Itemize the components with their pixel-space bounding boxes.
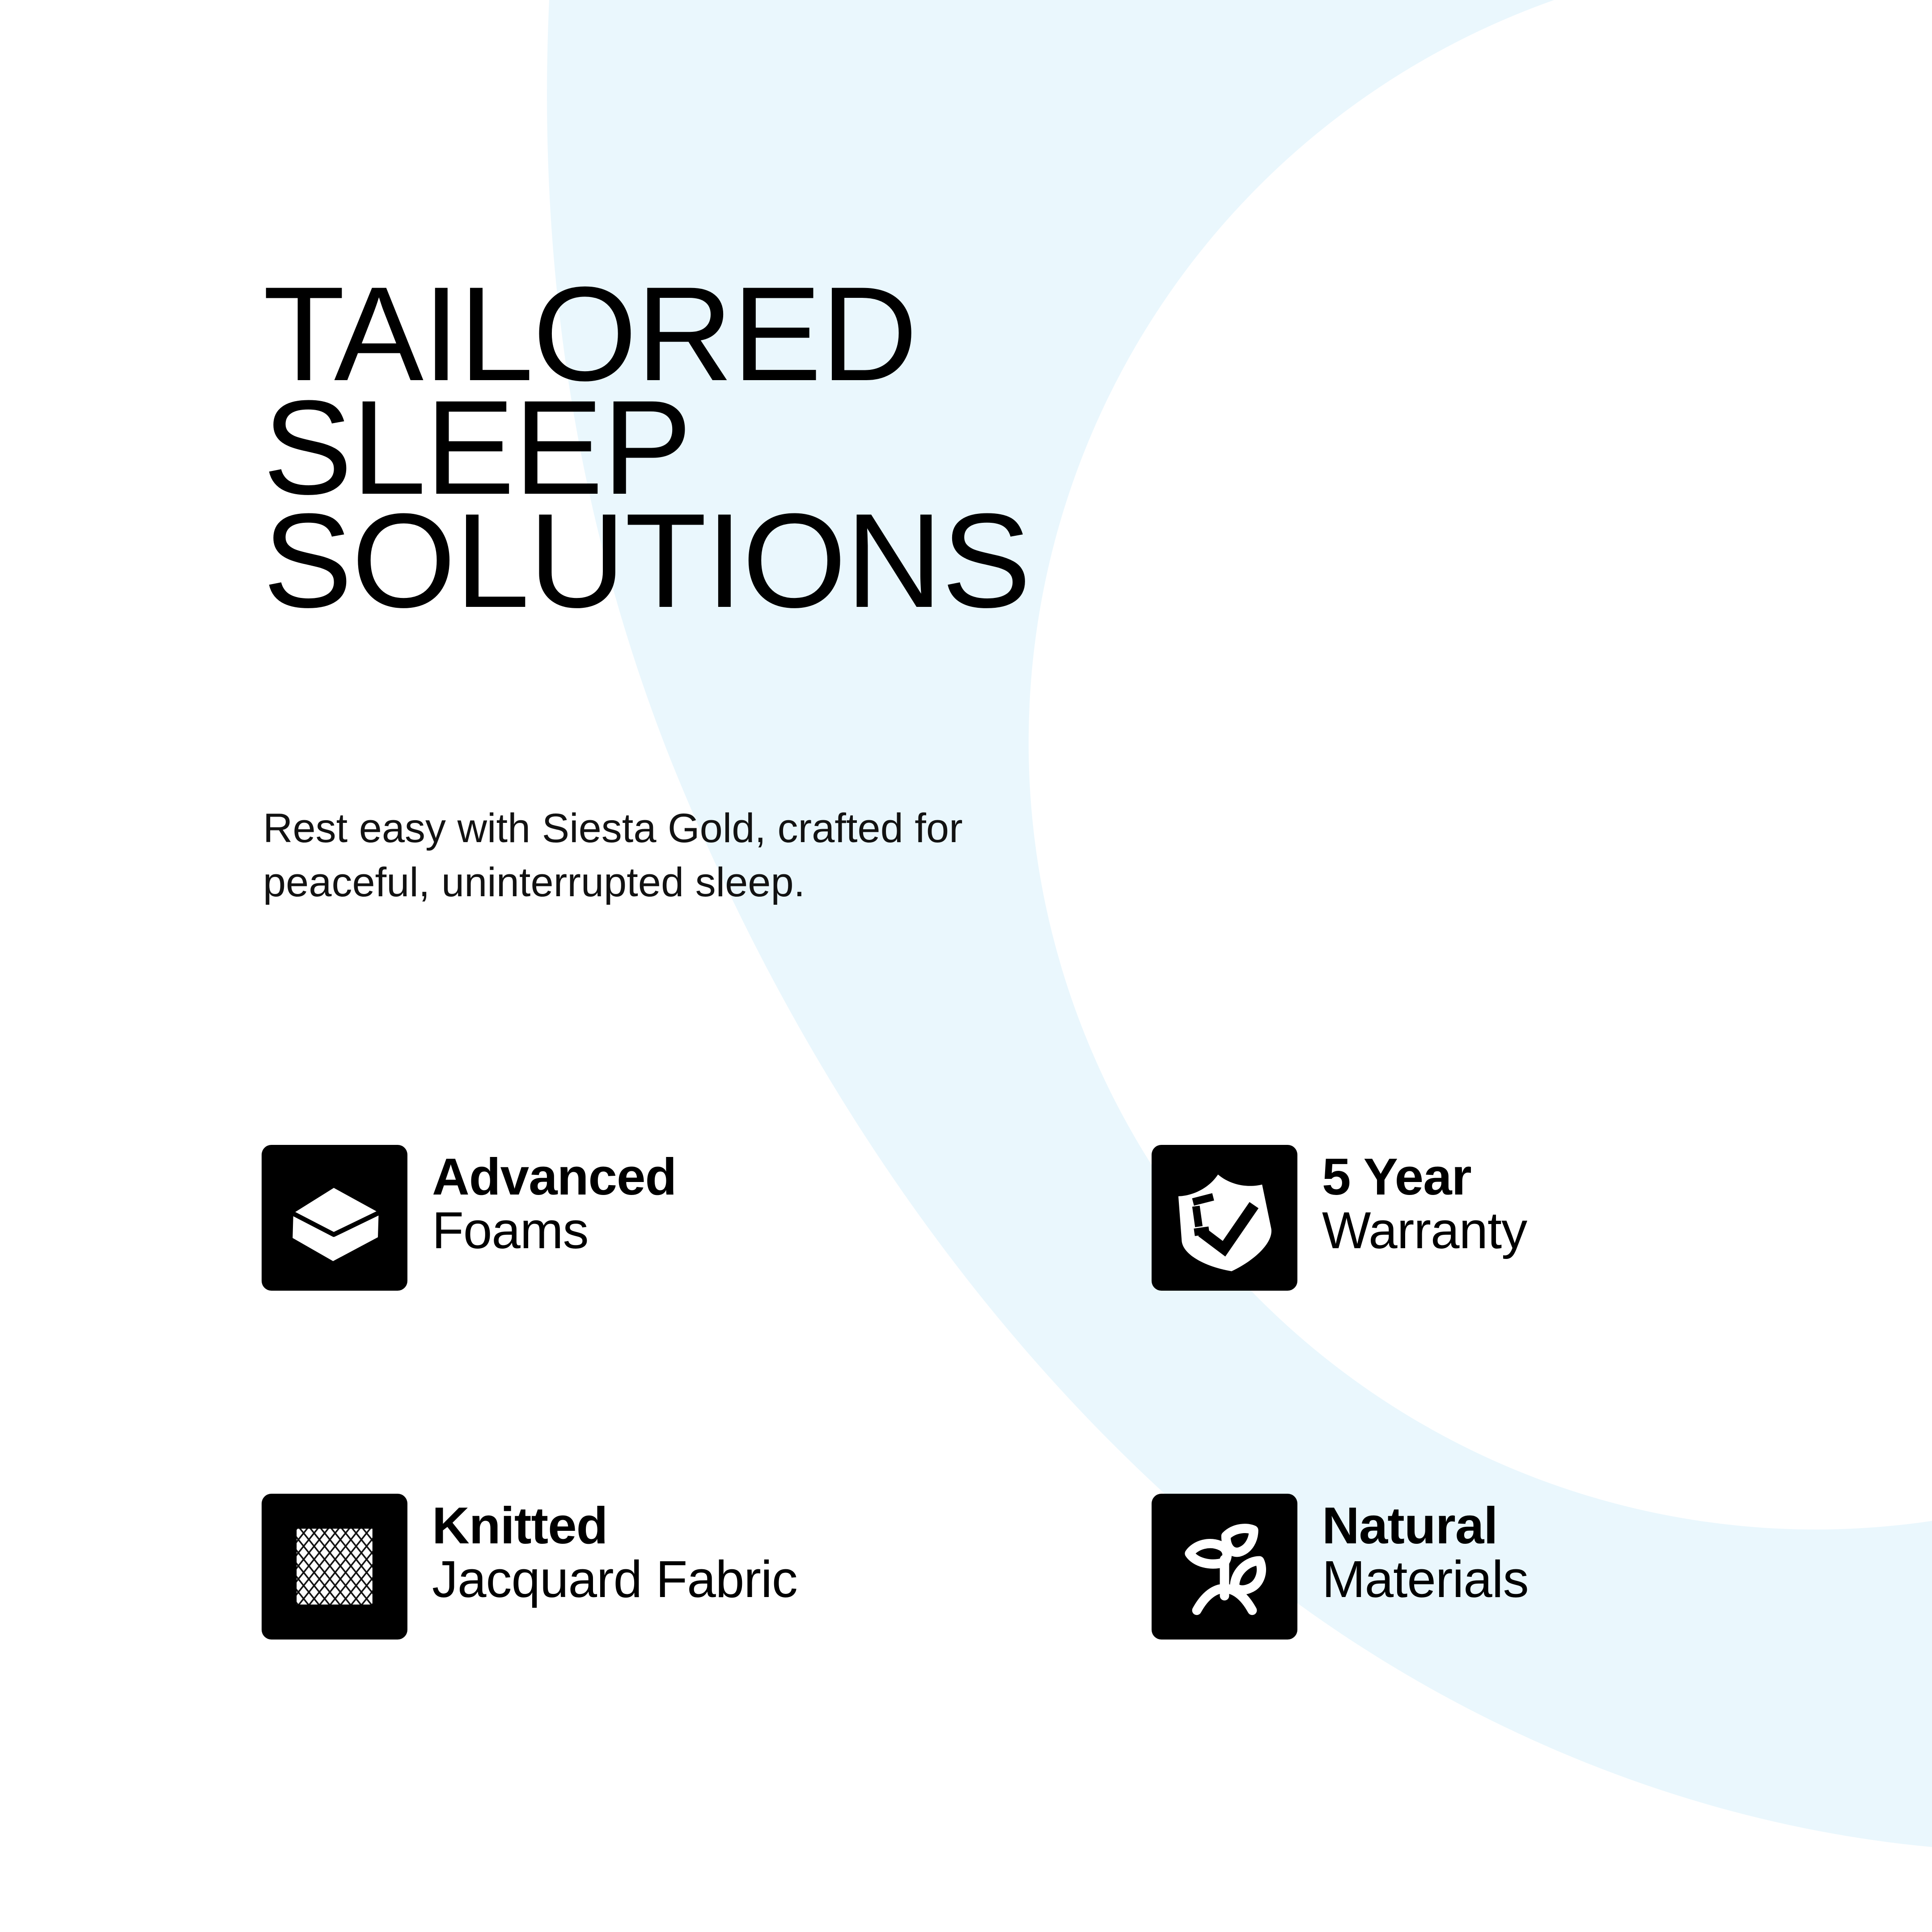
sprout-leaf-icon (1152, 1494, 1297, 1640)
feature-title: 5 Year (1322, 1150, 1527, 1203)
page-title: TAILORED SLEEP SOLUTIONS (263, 277, 1560, 618)
feature-grid: Advanced Foams 5 Year Warranty (262, 1145, 1720, 1843)
feature-subtitle: Warranty (1322, 1203, 1527, 1258)
headline-block: TAILORED SLEEP SOLUTIONS (263, 277, 1560, 618)
feature-item-warranty: 5 Year Warranty (1152, 1145, 1720, 1494)
feature-subtitle: Foams (432, 1203, 676, 1258)
subtitle-text: Rest easy with Siesta Gold, crafted for … (263, 801, 1113, 910)
feature-subtitle: Jacquard Fabric (432, 1552, 797, 1607)
feature-label-group: Natural Materials (1322, 1494, 1529, 1607)
feature-label-group: Advanced Foams (432, 1145, 676, 1258)
feature-label-group: Knitted Jacquard Fabric (432, 1494, 797, 1607)
shield-check-icon (1152, 1145, 1297, 1291)
feature-label-group: 5 Year Warranty (1322, 1145, 1527, 1258)
feature-item-natural-materials: Natural Materials (1152, 1494, 1720, 1843)
feature-title: Advanced (432, 1150, 676, 1203)
knitted-mesh-icon (262, 1494, 407, 1640)
feature-item-advanced-foams: Advanced Foams (262, 1145, 1152, 1494)
foam-block-icon (262, 1145, 407, 1291)
feature-title: Natural (1322, 1499, 1529, 1552)
poster-canvas: TAILORED SLEEP SOLUTIONS Rest easy with … (0, 0, 1932, 1932)
feature-subtitle: Materials (1322, 1552, 1529, 1607)
feature-title: Knitted (432, 1499, 797, 1552)
feature-item-knitted-fabric: Knitted Jacquard Fabric (262, 1494, 1152, 1843)
